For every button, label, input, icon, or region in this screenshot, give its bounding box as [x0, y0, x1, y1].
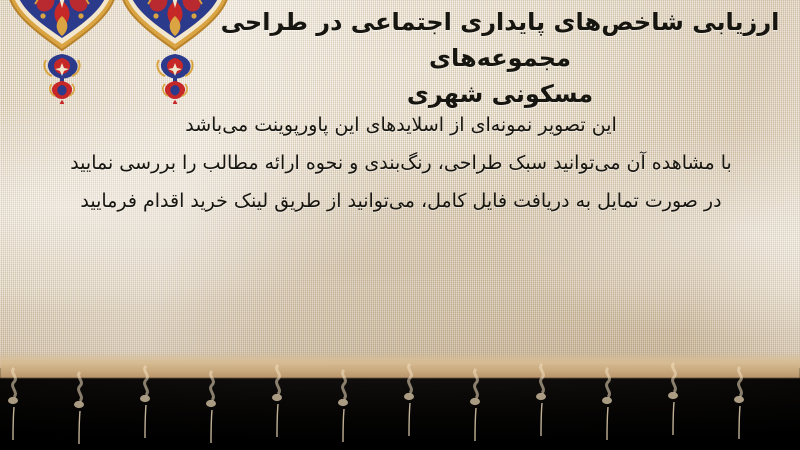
slide-title: ارزیابی شاخص‌های پایداری اجتماعی در طراح… [210, 4, 790, 112]
body-line-3: در صورت تمایل به دریافت فایل کامل، می‌تو… [20, 182, 782, 220]
body-line-2: با مشاهده آن می‌توانید سبک طراحی، رنگ‌بن… [20, 144, 782, 182]
slide-title-line-1: ارزیابی شاخص‌های پایداری اجتماعی در طراح… [210, 4, 790, 76]
presentation-slide: ارزیابی شاخص‌های پایداری اجتماعی در طراح… [0, 0, 800, 450]
carpet-fringe-icon [0, 348, 800, 450]
body-line-1: این تصویر نمونه‌ای از اسلایدهای این پاور… [20, 106, 782, 144]
slide-body-text: این تصویر نمونه‌ای از اسلایدهای این پاور… [20, 106, 782, 220]
